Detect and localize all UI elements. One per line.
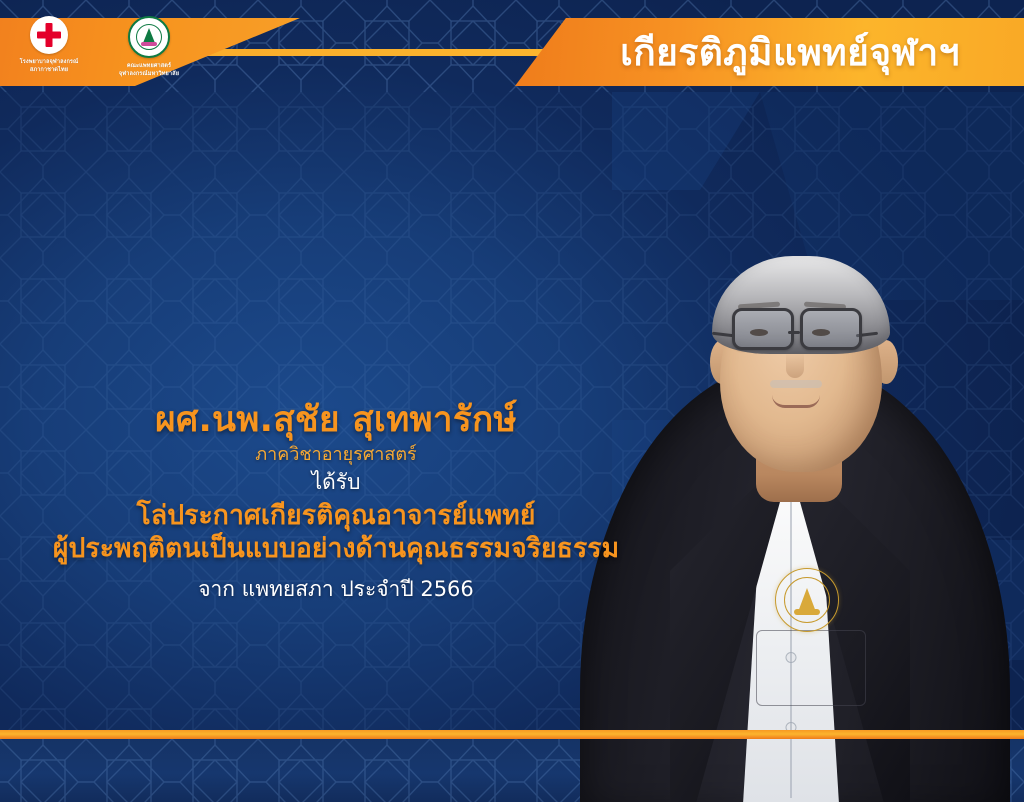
logo-thai-red-cross-hospital: โรงพยาบาลจุฬาลงกรณ์ สภากาชาดไทย — [10, 16, 88, 74]
logo-group: โรงพยาบาลจุฬาลงกรณ์ สภากาชาดไทย คณะแพทยศ… — [10, 16, 188, 78]
footer-gold-rule — [0, 730, 1024, 739]
glasses-lens-right — [800, 308, 862, 350]
award-title-line-2: ผู้ประพฤติตนเป็นแบบอย่างด้านคุณธรรมจริยธ… — [0, 532, 672, 565]
logo-caption-2-line2: จุฬาลงกรณ์มหาวิทยาลัย — [119, 71, 179, 77]
red-cross-icon — [30, 16, 68, 54]
glasses-lens-left — [732, 308, 794, 350]
glasses-bridge — [788, 331, 800, 334]
nose — [786, 352, 804, 378]
honoree-department: ภาควิชาอายุรศาสตร์ — [0, 443, 672, 467]
logo-caption-2-line1: คณะแพทยศาสตร์ — [127, 63, 171, 69]
mouth — [772, 395, 820, 408]
received-label: ได้รับ — [0, 469, 672, 496]
award-text-block: ผศ.นพ.สุชัย สุเทพารักษ์ ภาควิชาอายุรศาสต… — [0, 400, 672, 603]
award-granted-by: จาก แพทยสภา ประจำปี 2566 — [0, 576, 672, 603]
chulalongkorn-faculty-of-medicine-icon — [128, 16, 170, 58]
logo-caption-1-line1: โรงพยาบาลจุฬาลงกรณ์ — [20, 59, 79, 65]
logo-caption-1-line2: สภากาชาดไทย — [30, 67, 68, 73]
header-banner-title: เกียรติภูมิแพทย์จุฬาฯ — [560, 18, 1020, 86]
logo-caption-1: โรงพยาบาลจุฬาลงกรณ์ สภากาชาดไทย — [20, 58, 79, 74]
logo-faculty-of-medicine-cu: คณะแพทยศาสตร์ จุฬาลงกรณ์มหาวิทยาลัย — [110, 16, 188, 78]
jacket-pocket — [756, 630, 866, 706]
logo-caption-2: คณะแพทยศาสตร์ จุฬาลงกรณ์มหาวิทยาลัย — [119, 62, 179, 78]
award-title-line-1: โล่ประกาศเกียรติคุณอาจารย์แพทย์ — [0, 499, 672, 532]
moustache — [770, 380, 822, 388]
chulalongkorn-phra-kiao-emblem-icon — [775, 568, 839, 632]
award-poster: เกียรติภูมิแพทย์จุฬาฯ โรงพยาบาลจุฬาลงกรณ… — [0, 0, 1024, 802]
honoree-name: ผศ.นพ.สุชัย สุเทพารักษ์ — [0, 400, 672, 441]
